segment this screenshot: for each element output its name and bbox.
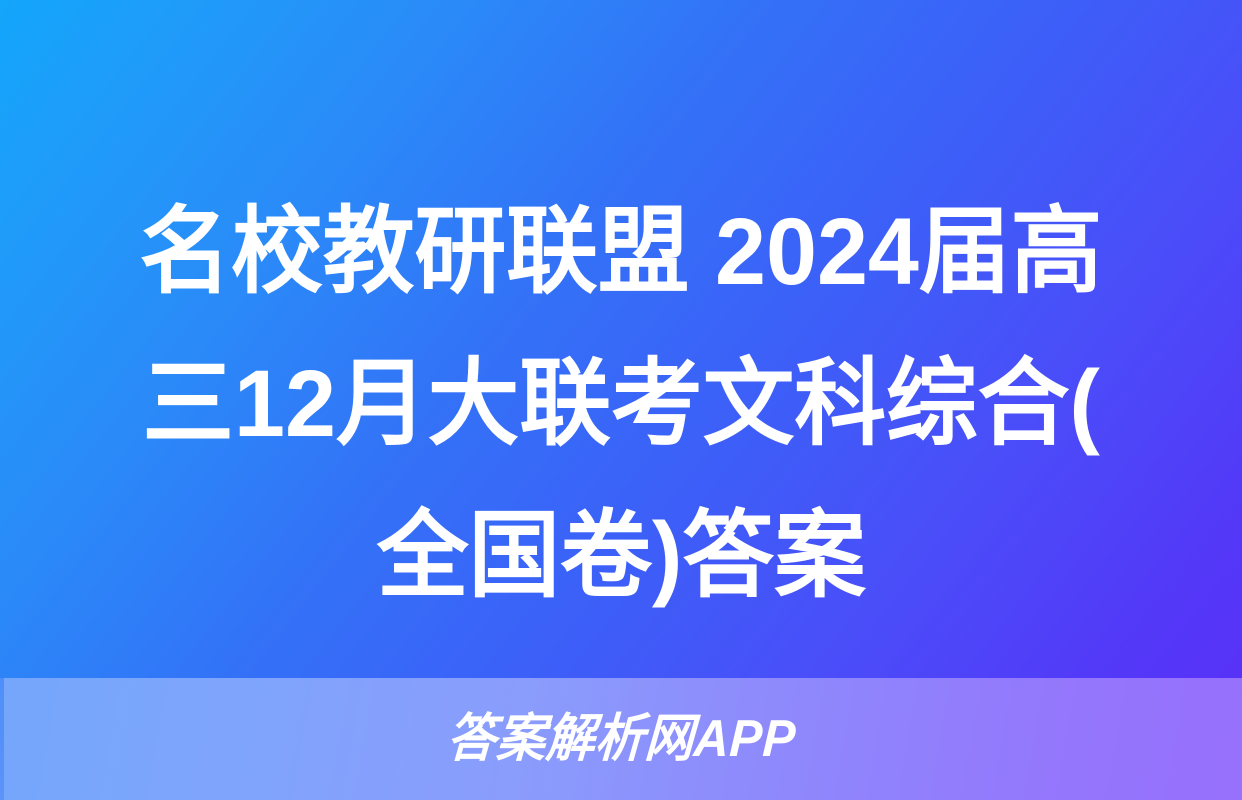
title-line-1: 名校教研联盟 2024届高 xyxy=(140,176,1103,328)
watermark-text: 答案解析网APP xyxy=(445,713,796,765)
band-left-edge xyxy=(0,678,4,800)
title-line-2: 三12月大联考文科综合( xyxy=(142,328,1100,480)
watermark-band: 答案解析网APP xyxy=(0,678,1242,800)
poster-title: 名校教研联盟 2024届高 三12月大联考文科综合( 全国卷)答案 xyxy=(0,176,1242,632)
answer-poster: 名校教研联盟 2024届高 三12月大联考文科综合( 全国卷)答案 答案解析网A… xyxy=(0,0,1242,800)
title-line-3: 全国卷)答案 xyxy=(377,480,866,632)
